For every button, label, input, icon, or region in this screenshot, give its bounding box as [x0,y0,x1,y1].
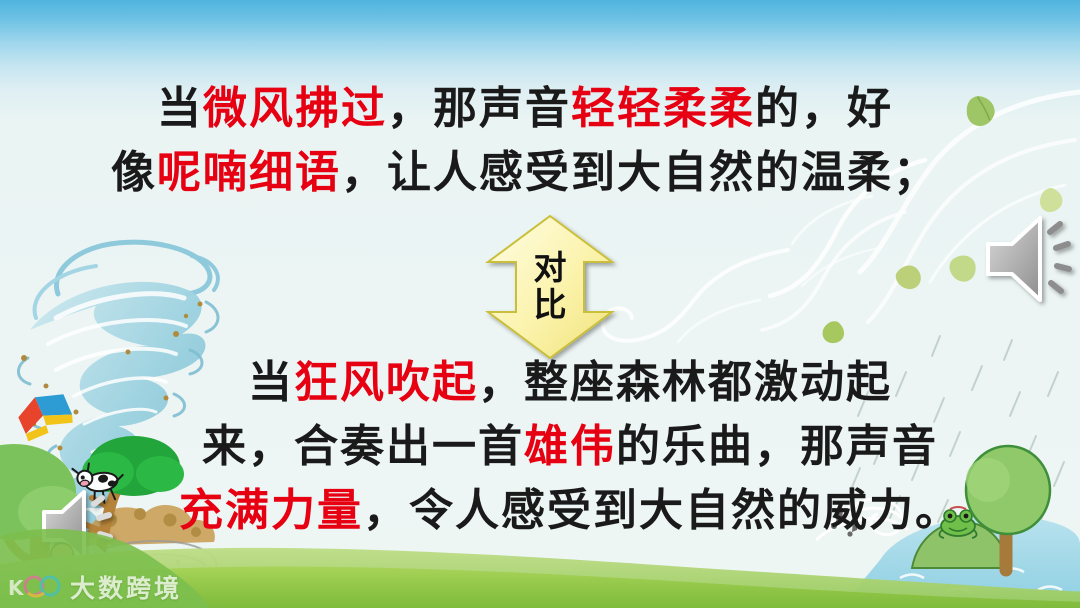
text-run: 当 [248,357,294,408]
contrast-char-2: 比 [534,286,567,323]
flying-cow [72,459,126,506]
text-run-highlight: 呢喃细语 [157,147,341,198]
top-passage-line-1: 当微风拂过，那声音轻轻柔柔的，好 [60,78,990,140]
text-run: 的乐曲，那声音 [616,421,938,472]
svg-text:K: K [8,576,25,600]
text-run-highlight: 充满力量 [179,485,363,536]
top-passage-line-2: 像呢喃细语，让人感受到大自然的温柔； [60,142,990,204]
flying-book-icon [14,388,76,442]
watermark-text: 大数跨境 [70,569,182,605]
text-run-highlight: 雄伟 [524,421,616,472]
speaker-bottom-left-icon [44,492,110,560]
slide-canvas: 当微风拂过，那声音轻轻柔柔的，好 像呢喃细语，让人感受到大自然的温柔； 对 比 … [0,0,1080,608]
text-run: 像 [111,147,157,198]
contrast-marker-label: 对 比 [487,218,613,354]
text-run-highlight: 轻轻柔柔 [571,83,755,134]
bottom-passage-line-3: 充满力量，令人感受到大自然的威力。 [120,480,1020,542]
watermark: K 大数跨境 [8,570,182,604]
text-run-highlight: 微风拂过 [203,83,387,134]
speaker-top-right-icon [988,218,1069,300]
text-run: ，令人感受到大自然的威力。 [363,485,961,536]
text-run: 的，好 [755,83,893,134]
text-run: ，让人感受到大自然的温柔； [341,147,939,198]
text-run: 当 [157,83,203,134]
top-passage: 当微风拂过，那声音轻轻柔柔的，好 像呢喃细语，让人感受到大自然的温柔； [60,78,990,204]
text-run-highlight: 狂风吹起 [294,357,478,408]
text-run: ，那声音 [387,83,571,134]
contrast-char-1: 对 [534,249,567,286]
contrast-marker: 对 比 [487,218,613,354]
bottom-passage-line-1: 当狂风吹起，整座森林都激动起 [120,352,1020,414]
text-run: ，整座森林都激动起 [478,357,892,408]
bottom-passage-line-2: 来，合奏出一首雄伟的乐曲，那声音 [120,416,1020,478]
text-run: 来，合奏出一首 [202,421,524,472]
bottom-passage: 当狂风吹起，整座森林都激动起 来，合奏出一首雄伟的乐曲，那声音 充满力量，令人感… [120,352,1020,542]
kua-jing-logo-icon: K [8,573,62,601]
